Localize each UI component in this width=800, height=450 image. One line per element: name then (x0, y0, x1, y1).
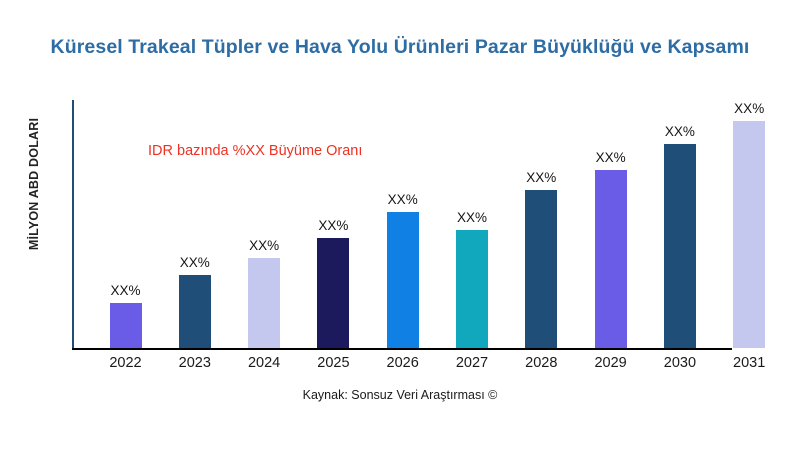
bar-group: XX%2025 (317, 0, 349, 348)
bar-group: XX%2026 (387, 0, 419, 348)
x-axis-tick-label: 2031 (733, 355, 765, 371)
bar-value-label: XX% (526, 170, 556, 185)
bar[interactable] (733, 121, 765, 348)
bar-group: XX%2023 (179, 0, 211, 348)
x-axis-tick-label: 2023 (179, 355, 211, 371)
growth-rate-annotation: IDR bazında %XX Büyüme Oranı (148, 143, 362, 159)
bar[interactable] (387, 212, 419, 348)
bar[interactable] (525, 190, 557, 348)
x-axis-tick-label: 2024 (248, 355, 280, 371)
bar[interactable] (664, 144, 696, 348)
bar-value-label: XX% (388, 192, 418, 207)
bar-value-label: XX% (457, 210, 487, 225)
bar-group: XX%2031 (733, 0, 765, 348)
x-axis-tick-label: 2022 (109, 355, 141, 371)
bar-group: XX%2027 (456, 0, 488, 348)
bar-group: XX%2030 (664, 0, 696, 348)
x-axis-tick-label: 2026 (387, 355, 419, 371)
plot-area: XX%2022XX%2023XX%2024XX%2025XX%2026XX%20… (0, 0, 800, 450)
bar-value-label: XX% (180, 255, 210, 270)
bar-value-label: XX% (110, 283, 140, 298)
bar-group: XX%2029 (595, 0, 627, 348)
bar[interactable] (456, 230, 488, 348)
x-axis-tick-label: 2025 (317, 355, 349, 371)
source-note: Kaynak: Sonsuz Veri Araştırması © (0, 388, 800, 402)
bar[interactable] (248, 258, 280, 348)
bar[interactable] (595, 170, 627, 348)
x-axis-tick-label: 2028 (525, 355, 557, 371)
bar-group: XX%2024 (248, 0, 280, 348)
x-axis-tick-label: 2029 (594, 355, 626, 371)
bar-value-label: XX% (734, 101, 764, 116)
bar-group: XX%2022 (110, 0, 142, 348)
chart-figure: Küresel Trakeal Tüpler ve Hava Yolu Ürün… (0, 0, 800, 450)
bar-value-label: XX% (596, 150, 626, 165)
x-axis-tick-label: 2027 (456, 355, 488, 371)
bar[interactable] (317, 238, 349, 348)
bar-value-label: XX% (249, 238, 279, 253)
bar-value-label: XX% (318, 218, 348, 233)
bar-value-label: XX% (665, 124, 695, 139)
bar[interactable] (110, 303, 142, 348)
bar[interactable] (179, 275, 211, 348)
bar-group: XX%2028 (525, 0, 557, 348)
x-axis-tick-label: 2030 (664, 355, 696, 371)
